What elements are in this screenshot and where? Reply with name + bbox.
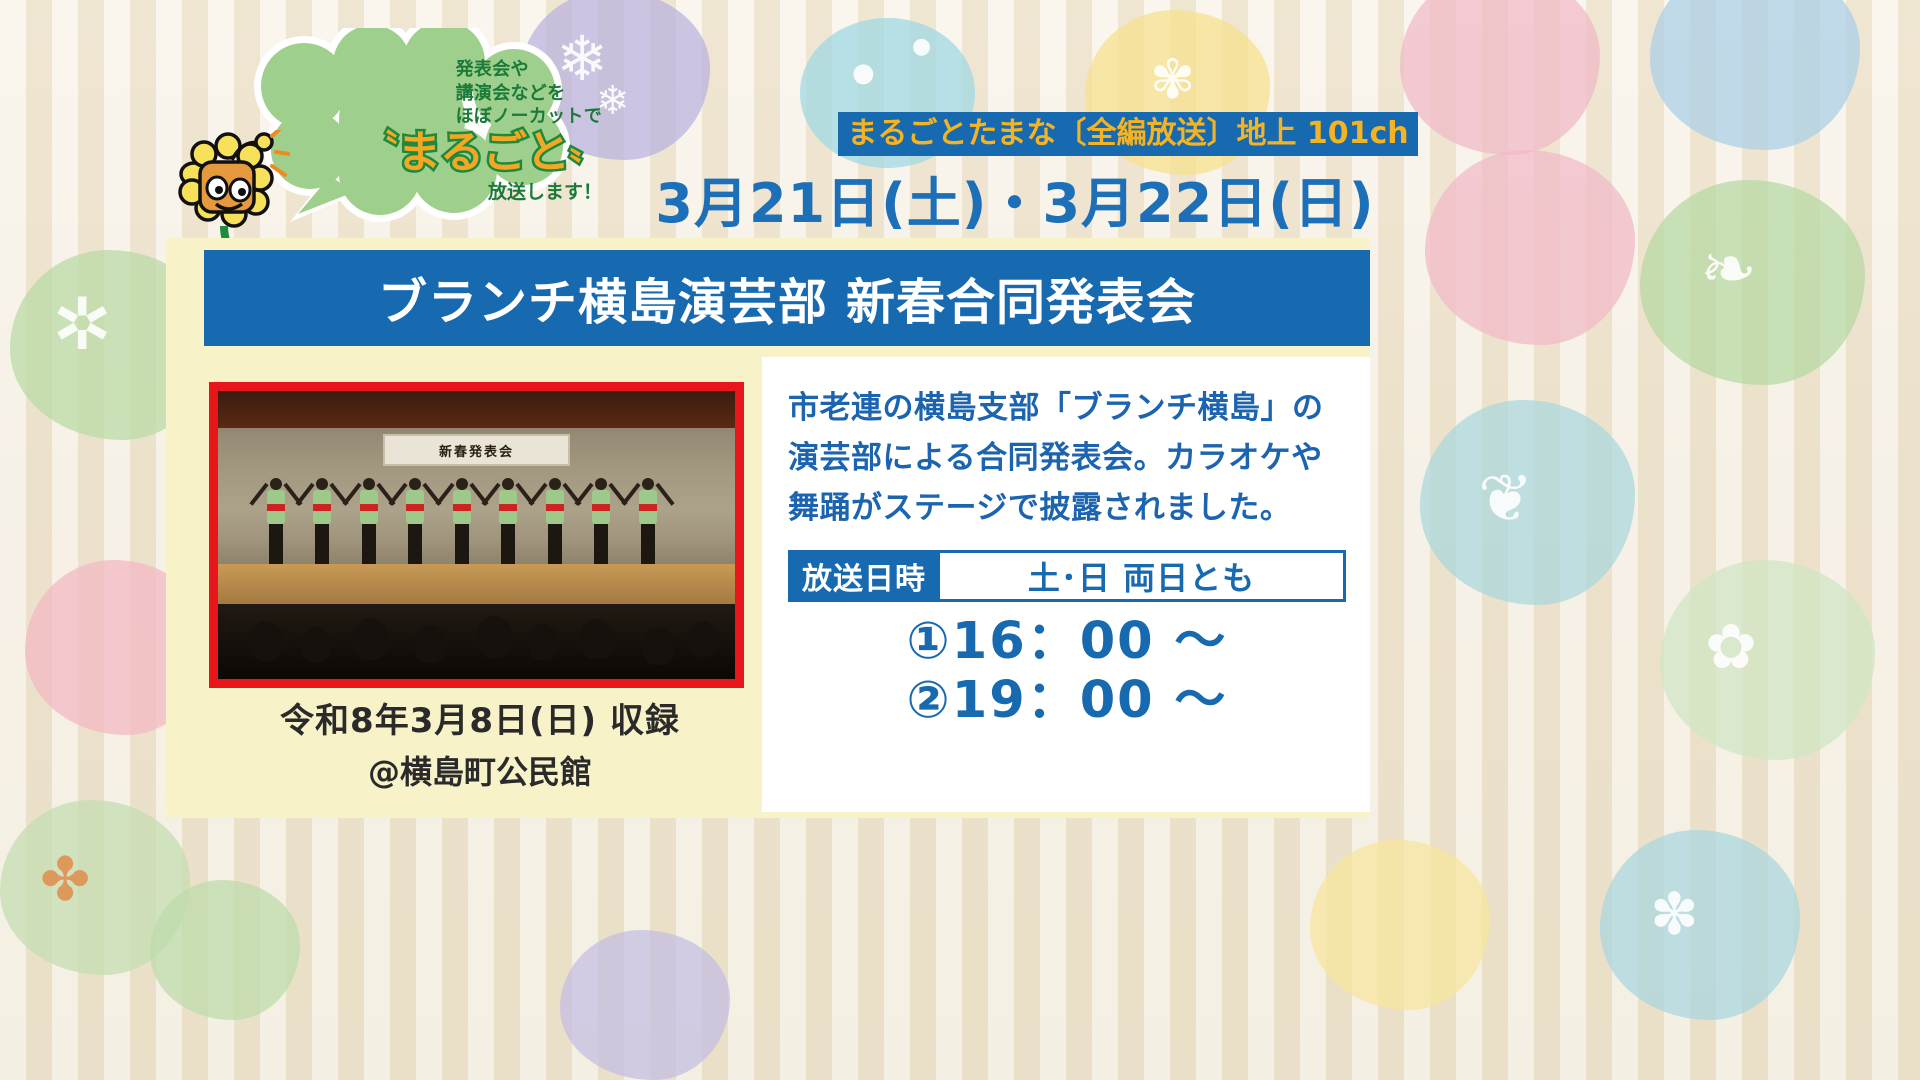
promo-speech-bubble: 発表会や 講演会などを ほぼノーカットで 〝まるごと〟 放送します！ — [172, 28, 572, 228]
promo-highlight: 〝まるごと〟 — [364, 131, 602, 175]
ornament-blob-teal-bottomright — [1600, 830, 1800, 1020]
maple-leaf-icon: ✤ — [40, 845, 90, 915]
stage-banner-sign: 新春発表会 — [383, 434, 569, 466]
channel-banner-text: まるごとたまな〔全編放送〕地上 101ch — [847, 119, 1408, 149]
caption-line-2: @横島町公民館 — [200, 747, 760, 793]
promo-line-4: 放送します！ — [488, 177, 602, 204]
broadcast-times: ①16：00 ～ ②19：00 ～ — [788, 612, 1346, 730]
description-line-3: 舞踊がステージで披露されました。 — [788, 483, 1346, 533]
quote-close: 〟 — [569, 128, 602, 168]
photo-caption: 令和8年3月8日(日) 収録 @横島町公民館 — [200, 700, 760, 793]
dot-icon: ● — [912, 34, 931, 59]
promo-line-1: 発表会や — [456, 58, 602, 82]
broadcast-date-heading: 3月21日(土)・3月22日(日) — [600, 166, 1430, 230]
ornament-blob-purple-bottom — [560, 930, 730, 1080]
leaf-icon: ❦ — [1478, 460, 1533, 537]
promo-highlight-text: まるごと — [397, 127, 569, 178]
program-title-bar: ブランチ横島演芸部 新春合同発表会 — [204, 250, 1370, 346]
broadcast-schedule-value: 土･日 両日とも — [940, 550, 1346, 602]
broadcast-time-2: ②19：00 ～ — [788, 671, 1346, 730]
dot-icon: ● — [852, 58, 875, 88]
ornament-blob-green-leftlow — [150, 880, 300, 1020]
promo-line-2: 講演会などを — [456, 82, 602, 106]
ornament-blob-pink-right — [1425, 150, 1635, 345]
channel-banner: まるごとたまな〔全編放送〕地上 101ch — [838, 112, 1418, 156]
ornament-blob-mint-rightlow — [1660, 560, 1875, 760]
tree-icon: ✲ — [52, 282, 112, 366]
event-photo: 新春発表会 — [209, 382, 744, 688]
flower-icon: ✿ — [1705, 610, 1757, 683]
ornament-blob-yellow-bottom — [1310, 840, 1490, 1010]
caption-line-1: 令和8年3月8日(日) 収録 — [200, 700, 760, 743]
stage-floor — [218, 564, 735, 610]
audience-silhouette — [218, 604, 735, 679]
stage-curtain — [218, 391, 735, 428]
promo-line-3: ほぼノーカットで — [456, 105, 602, 129]
broadcast-time-1: ①16：00 ～ — [788, 612, 1346, 671]
broadcast-schedule-row: 放送日時 土･日 両日とも — [788, 550, 1346, 602]
quote-open: 〝 — [364, 128, 397, 168]
butterfly-icon: ✾ — [1150, 48, 1195, 111]
program-description-box: 市老連の横島支部「ブランチ横島」の 演芸部による合同発表会。カラオケや 舞踊がス… — [762, 357, 1370, 812]
description-line-1: 市老連の横島支部「ブランチ横島」の — [788, 383, 1346, 433]
leaf-icon: ❧ — [1700, 230, 1757, 309]
program-title: ブランチ横島演芸部 新春合同発表会 — [378, 263, 1196, 334]
flower-icon: ✽ — [1650, 880, 1699, 948]
description-line-2: 演芸部による合同発表会。カラオケや — [788, 433, 1346, 483]
broadcast-schedule-label: 放送日時 — [788, 550, 940, 602]
